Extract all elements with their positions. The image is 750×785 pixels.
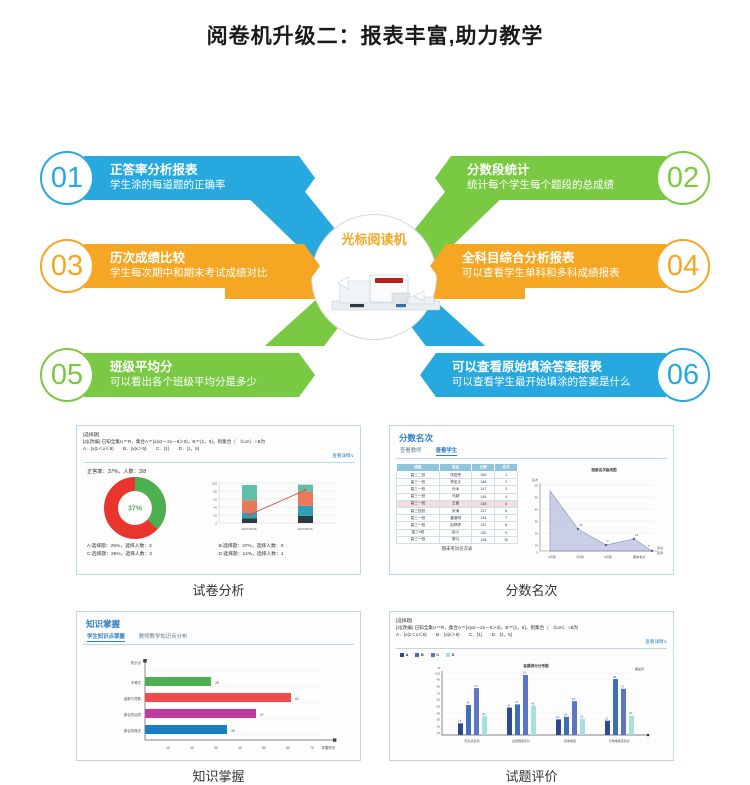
- feature-desc-05: 可以看出各个班级平均分是多少: [110, 376, 285, 390]
- svg-text:%: %: [437, 666, 440, 670]
- knowledge-chart-wrap: 知识点 28 不等式 62: [83, 645, 354, 756]
- page-title: 阅卷机升级二：报表丰富,助力教学: [0, 0, 750, 47]
- question-line-2: A．{x|1＜x＜5} B．{x|x＞5} C．{1} D．{1，5}: [83, 445, 354, 452]
- question-tag-2: [选择题]: [396, 617, 667, 624]
- svg-text:知识点: 知识点: [131, 660, 142, 665]
- svg-text:70: 70: [310, 746, 314, 750]
- svg-text:25: 25: [580, 715, 584, 719]
- feature-item-04[interactable]: 全科目综合分析报表 可以查看学生单科和多科成绩报表 04: [430, 239, 710, 293]
- panel-row-top: [选择题] [2](改编) 已知全集U＝R，集合A＝{x|x2－2x－8＞0}，…: [0, 425, 750, 599]
- svg-text:0: 0: [215, 522, 217, 526]
- panel-caption-score-rank: 分数名次: [389, 575, 674, 599]
- table-row: 高三一班赵婷婷1328: [397, 522, 518, 529]
- svg-text:35: 35: [231, 729, 235, 733]
- feature-bar-01: 正答率分析报表 学生涂的每道题的正确率: [84, 156, 315, 200]
- svg-text:30: 30: [437, 718, 441, 722]
- feature-title-06: 可以查看原始填涂答案报表: [452, 360, 640, 376]
- table-row: 高三一班董旭明1347: [397, 515, 518, 522]
- table-row: 高三一班马越1454: [397, 493, 518, 500]
- view-detail-link[interactable]: 查看详情∨: [83, 452, 354, 459]
- svg-text:28: 28: [564, 713, 568, 717]
- legend-item-d: D: [446, 652, 454, 657]
- svg-text:各题得分分布图: 各题得分分布图: [522, 663, 549, 668]
- svg-text:30: 30: [535, 520, 539, 524]
- scanner-icon: [326, 263, 446, 319]
- score-rank-title: 分数名次: [396, 431, 667, 446]
- svg-text:10: 10: [437, 731, 441, 735]
- screenshot-panels: [选择题] [2](改编) 已知全集U＝R，集合A＝{x|x2－2x－8＞0}，…: [0, 421, 750, 785]
- svg-text:47: 47: [260, 713, 264, 717]
- feature-number-04: 04: [656, 239, 710, 293]
- svg-text:函数与导数: 函数与导数: [124, 696, 142, 701]
- col-rank: 名次: [495, 464, 518, 472]
- svg-text:22: 22: [605, 717, 609, 721]
- option-stat-c: C:选择题：25%，选择人数：2: [87, 551, 219, 559]
- svg-text:3月考: 3月考: [548, 554, 556, 559]
- svg-text:5月考: 5月考: [604, 554, 612, 559]
- svg-text:62: 62: [295, 697, 299, 701]
- question-evaluation-bar: 各题得分分布图 覆盖率 %: [396, 657, 667, 751]
- svg-text:28: 28: [579, 523, 583, 527]
- svg-text:名称: 名称: [657, 550, 663, 555]
- svg-text:考试: 考试: [657, 545, 663, 550]
- svg-text:60: 60: [214, 498, 218, 502]
- svg-text:50: 50: [437, 705, 441, 709]
- panel-caption-knowledge-mastery: 知识掌握: [76, 761, 361, 785]
- svg-text:71: 71: [621, 685, 625, 689]
- question-line-1: [2](改编) 已知全集U＝R，集合A＝{x|x2－2x－8＞0}，B＝{1，5…: [83, 438, 354, 445]
- feature-bar-02: 分数段统计 统计每个学生每个题段的总成绩: [435, 156, 666, 200]
- legend-item-a: A: [400, 652, 408, 657]
- table-row: 高三4班赵小1309: [397, 529, 518, 536]
- svg-text:知识点名称: 知识点名称: [464, 738, 479, 743]
- feature-number-01: 01: [40, 151, 94, 205]
- svg-text:30: 30: [629, 712, 633, 716]
- rank-table-caption: 期末考试名次表: [396, 544, 518, 552]
- table-row: 高三二班张招誉1501: [397, 472, 518, 479]
- svg-text:60: 60: [437, 698, 441, 702]
- option-stats: A:选择题：25%，选择人数：2 B:选择题：37%，选择人数：3 C:选择题：…: [83, 539, 354, 559]
- question-line-1-2: [2](改编) 已知全集U＝R，集合A＝{x|x2－2x－8＞0}，B＝{1，5…: [396, 624, 667, 631]
- hub-center: 光标阅读机: [311, 214, 437, 340]
- svg-text:80: 80: [437, 685, 441, 689]
- feature-item-05[interactable]: 05 班级平均分 可以看出各个班级平均分是多少: [40, 348, 315, 402]
- feature-desc-03: 学生每次期中和期末考试成绩对比: [110, 267, 290, 281]
- svg-text:45: 45: [531, 702, 535, 706]
- svg-text:2017/04/16: 2017/04/16: [297, 527, 312, 531]
- svg-text:52: 52: [572, 697, 576, 701]
- svg-text:0: 0: [536, 551, 538, 555]
- svg-text:10: 10: [535, 544, 539, 548]
- feature-number-02: 02: [656, 151, 710, 205]
- table-header-row: 班级 姓名 分数 名次: [397, 464, 518, 472]
- svg-text:班级名次曲线图: 班级名次曲线图: [591, 467, 617, 472]
- question-eval-legend: A B C D: [396, 649, 667, 657]
- tab-teacher-knowledge[interactable]: 教师教学知识点分布: [139, 632, 188, 642]
- col-name: 姓名: [439, 464, 472, 472]
- legend-item-b: B: [415, 652, 423, 657]
- svg-text:60: 60: [286, 746, 290, 750]
- svg-text:题本难度: 题本难度: [564, 738, 576, 743]
- svg-text:24: 24: [556, 715, 560, 719]
- panel-score-rank: 分数名次 查看教师 查看学生 班级 姓名 分数 名次: [389, 425, 674, 599]
- svg-text:20: 20: [214, 514, 218, 518]
- svg-text:70: 70: [437, 692, 441, 696]
- rank-curve-chart: 班级名次曲线图 名次 60 50 40 30 20 10: [524, 463, 666, 567]
- svg-text:30: 30: [214, 746, 218, 750]
- feature-desc-02: 统计每个学生每个题段的总成绩: [467, 179, 640, 193]
- correct-rate-text: 正答率：37%，人数：3/8: [83, 463, 354, 475]
- svg-text:86: 86: [613, 675, 617, 679]
- feature-item-02[interactable]: 分数段统计 统计每个学生每个题段的总成绩 02: [435, 151, 710, 205]
- svg-text:47: 47: [515, 700, 519, 704]
- svg-text:4月考: 4月考: [576, 554, 584, 559]
- col-class: 班级: [397, 464, 440, 472]
- correct-rate-donut: 37%: [83, 477, 191, 539]
- svg-text:46: 46: [466, 701, 470, 705]
- feature-bar-06: 可以查看原始填涂答案报表 可以查看学生最开始填涂的答案是什么: [420, 353, 666, 397]
- svg-text:期末考试: 期末考试: [633, 554, 645, 559]
- option-stat-d: D:选择题：12%，选择人数：1: [219, 551, 351, 559]
- panel-question-evaluation-shot[interactable]: [选择题] [2](改编) 已知全集U＝R，集合A＝{x|x2－2x－8＞0}，…: [389, 611, 674, 761]
- tab-view-teacher[interactable]: 查看教师: [400, 446, 422, 456]
- score-rank-body: 班级 姓名 分数 名次 高三二班张招誉1501 高三一班李尼元1482 高三一班…: [396, 459, 667, 567]
- feature-title-01: 正答率分析报表: [110, 163, 285, 179]
- feature-title-03: 历次成绩比较: [110, 251, 290, 267]
- history-stacked-bar: 100 80 60 40 20 0: [197, 477, 347, 539]
- panel-score-rank-shot[interactable]: 分数名次 查看教师 查看学生 班级 姓名 分数 名次: [389, 425, 674, 575]
- svg-text:集合的概念: 集合的概念: [124, 728, 142, 733]
- svg-text:80: 80: [214, 490, 218, 494]
- knowledge-title: 知识掌握: [83, 617, 354, 632]
- question-tag: [选择题]: [83, 431, 354, 438]
- svg-text:不等式: 不等式: [131, 680, 142, 685]
- feature-title-04: 全科目综合分析报表: [462, 251, 640, 267]
- svg-text:8: 8: [607, 539, 609, 543]
- table-row: 高三一班李尼元1482: [397, 479, 518, 486]
- svg-text:29: 29: [482, 712, 486, 716]
- feature-bar-03: 历次成绩比较 学生每次期中和期末考试成绩对比: [84, 244, 320, 288]
- view-detail-link-2[interactable]: 查看详情∨: [396, 638, 667, 645]
- feature-desc-04: 可以查看学生单科和多科成绩报表: [462, 267, 640, 281]
- table-row: 高三一班黎凡12810: [397, 536, 518, 543]
- panel-caption-question-evaluation: 试题评价: [389, 761, 674, 785]
- svg-text:50: 50: [262, 746, 266, 750]
- feature-item-06[interactable]: 可以查看原始填涂答案报表 可以查看学生最开始填涂的答案是什么 06: [420, 348, 710, 402]
- panel-caption-paper-analysis: 试卷分析: [76, 575, 361, 599]
- svg-text:40: 40: [437, 712, 441, 716]
- option-stat-a: A:选择题：25%，选择人数：2: [87, 543, 219, 551]
- svg-text:2017/04/06: 2017/04/06: [241, 527, 256, 531]
- feature-number-06: 06: [656, 348, 710, 402]
- svg-text:28: 28: [215, 681, 219, 685]
- svg-text:100: 100: [212, 482, 217, 486]
- option-stat-b: B:选择题：37%，选择人数：3: [219, 543, 351, 551]
- feature-desc-06: 可以查看学生最开始填涂的答案是什么: [452, 376, 640, 390]
- rank-table: 班级 姓名 分数 名次 高三二班张招誉1501 高三一班李尼元1482 高三一班…: [396, 463, 518, 544]
- svg-text:18: 18: [458, 719, 462, 723]
- question-block-2: [选择题] [2](改编) 已知全集U＝R，集合A＝{x|x2－2x－8＞0}，…: [396, 617, 667, 649]
- charts-row: 37% 100: [83, 475, 354, 539]
- svg-text:40: 40: [535, 508, 539, 512]
- svg-text:20: 20: [190, 746, 194, 750]
- tab-view-student[interactable]: 查看学生: [436, 446, 458, 456]
- question-line-2-2: A．{x|1＜x＜5} B．{x|x＞5} C．{1} D．{1，5}: [396, 631, 667, 638]
- svg-text:掌握情况: 掌握情况: [321, 745, 335, 750]
- svg-text:100: 100: [435, 672, 440, 676]
- panel-knowledge-mastery-shot[interactable]: 知识掌握 学生知识点掌握 教师教学知识点分布 知识点: [76, 611, 361, 761]
- feature-bar-05: 班级平均分 可以看出各个班级平均分是多少: [84, 353, 315, 397]
- svg-text:40: 40: [214, 506, 218, 510]
- feature-bar-04: 全科目综合分析报表 可以查看学生单科和多科成绩报表: [430, 244, 666, 288]
- hub-diagram: 光标阅读机 01 正答率分析报表 学生涂的每道题的正确率 分数段统计 统计每个学…: [0, 61, 750, 346]
- panel-paper-analysis: [选择题] [2](改编) 已知全集U＝R，集合A＝{x|x2－2x－8＞0}，…: [76, 425, 361, 599]
- table-row: 高三一班孙冰1473: [397, 486, 518, 493]
- feature-number-05: 05: [40, 348, 94, 402]
- feature-title-02: 分数段统计: [467, 163, 640, 179]
- svg-text:10: 10: [166, 746, 170, 750]
- knowledge-mastery-bar: 知识点 28 不等式 62: [83, 648, 354, 756]
- svg-text:集合的运算: 集合的运算: [124, 712, 142, 717]
- svg-text:5: 5: [648, 544, 650, 548]
- svg-text:42: 42: [507, 704, 511, 708]
- svg-text:出题难度评价: 出题难度评价: [512, 738, 530, 743]
- svg-text:20: 20: [437, 725, 441, 729]
- table-row: 高三四班宋涛1376: [397, 507, 518, 514]
- panel-row-bottom: 知识掌握 学生知识点掌握 教师教学知识点分布 知识点: [0, 611, 750, 785]
- feature-item-03[interactable]: 03 历次成绩比较 学生每次期中和期末考试成绩对比: [40, 239, 320, 293]
- svg-text:12: 12: [635, 533, 639, 537]
- svg-text:37%: 37%: [128, 506, 143, 513]
- question-block: [选择题] [2](改编) 已知全集U＝R，集合A＝{x|x2－2x－8＞0}，…: [83, 431, 354, 463]
- svg-text:订卷难易度测试: 订卷难易度测试: [608, 738, 629, 743]
- panel-paper-analysis-shot[interactable]: [选择题] [2](改编) 已知全集U＝R，集合A＝{x|x2－2x－8＞0}，…: [76, 425, 361, 575]
- feature-item-01[interactable]: 01 正答率分析报表 学生涂的每道题的正确率: [40, 151, 315, 205]
- legend-item-c: C: [431, 652, 439, 657]
- svg-text:40: 40: [238, 746, 242, 750]
- svg-text:20: 20: [535, 532, 539, 536]
- col-score: 分数: [472, 464, 495, 472]
- svg-text:72: 72: [474, 684, 478, 688]
- svg-text:60: 60: [535, 484, 539, 488]
- panel-question-evaluation: [选择题] [2](改编) 已知全集U＝R，集合A＝{x|x2－2x－8＞0}，…: [389, 611, 674, 785]
- feature-number-03: 03: [40, 239, 94, 293]
- feature-title-05: 班级平均分: [110, 360, 285, 376]
- table-row: 高三一班王鑫1385: [397, 500, 518, 507]
- svg-text:覆盖率: 覆盖率: [635, 666, 644, 671]
- svg-text:92: 92: [523, 671, 527, 675]
- svg-text:名次: 名次: [532, 477, 538, 482]
- panel-knowledge-mastery: 知识掌握 学生知识点掌握 教师教学知识点分布 知识点: [76, 611, 361, 785]
- score-rank-tabs: 查看教师 查看学生: [396, 446, 667, 459]
- knowledge-tabs: 学生知识点掌握 教师教学知识点分布: [83, 632, 354, 645]
- svg-text:90: 90: [437, 678, 441, 682]
- feature-desc-01: 学生涂的每道题的正确率: [110, 179, 285, 193]
- tab-student-knowledge[interactable]: 学生知识点掌握: [87, 632, 125, 642]
- svg-text:50: 50: [535, 496, 539, 500]
- hub-label: 光标阅读机: [312, 229, 436, 248]
